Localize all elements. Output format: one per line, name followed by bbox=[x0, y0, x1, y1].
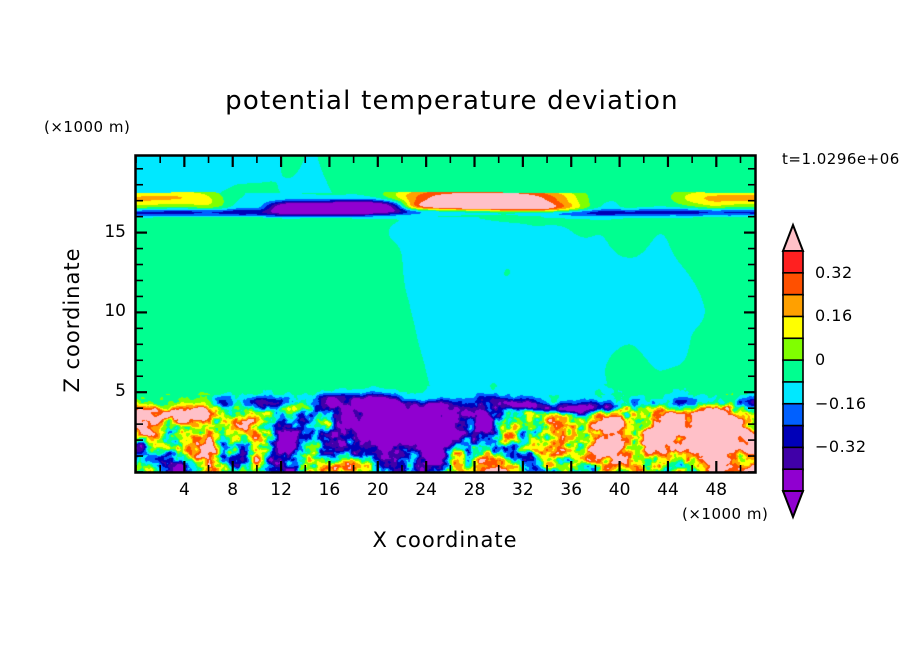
colorbar-band[interactable] bbox=[783, 469, 803, 491]
colorbar-band[interactable] bbox=[783, 338, 803, 360]
colorbar-band[interactable] bbox=[783, 295, 803, 317]
y-tick-label: 10 bbox=[86, 301, 126, 321]
colorbar-band[interactable] bbox=[783, 426, 803, 448]
colorbar-band[interactable] bbox=[783, 251, 803, 273]
x-tick-label: 40 bbox=[600, 480, 640, 500]
colorbar-over-arrow bbox=[783, 225, 803, 251]
colorbar-tick-label: −0.32 bbox=[815, 437, 867, 456]
x-tick-label: 32 bbox=[503, 480, 543, 500]
y-tick-label: 15 bbox=[86, 222, 126, 242]
x-tick-label: 36 bbox=[551, 480, 591, 500]
contour-plot-svg bbox=[0, 0, 904, 654]
colorbar-band[interactable] bbox=[783, 360, 803, 382]
x-tick-label: 4 bbox=[164, 480, 204, 500]
colorbar-band[interactable] bbox=[783, 382, 803, 404]
x-tick-label: 12 bbox=[261, 480, 301, 500]
colorbar-band[interactable] bbox=[783, 447, 803, 469]
colorbar-band[interactable] bbox=[783, 273, 803, 295]
x-tick-label: 24 bbox=[406, 480, 446, 500]
y-tick-label: 5 bbox=[86, 381, 126, 401]
x-tick-label: 20 bbox=[358, 480, 398, 500]
x-tick-label: 16 bbox=[309, 480, 349, 500]
figure-canvas: potential temperature deviation (×1000 m… bbox=[0, 0, 904, 654]
contour-field bbox=[136, 156, 755, 472]
colorbar[interactable] bbox=[783, 225, 803, 517]
x-tick-label: 28 bbox=[455, 480, 495, 500]
x-tick-label: 8 bbox=[213, 480, 253, 500]
x-tick-label: 44 bbox=[648, 480, 688, 500]
contour-raster bbox=[136, 156, 755, 472]
colorbar-tick-label: 0.32 bbox=[815, 263, 853, 282]
colorbar-tick-label: −0.16 bbox=[815, 394, 867, 413]
colorbar-band[interactable] bbox=[783, 404, 803, 426]
colorbar-under-arrow bbox=[783, 491, 803, 517]
colorbar-band[interactable] bbox=[783, 316, 803, 338]
colorbar-tick-label: 0.16 bbox=[815, 306, 853, 325]
x-tick-label: 48 bbox=[696, 480, 736, 500]
colorbar-tick-label: 0 bbox=[815, 350, 826, 369]
